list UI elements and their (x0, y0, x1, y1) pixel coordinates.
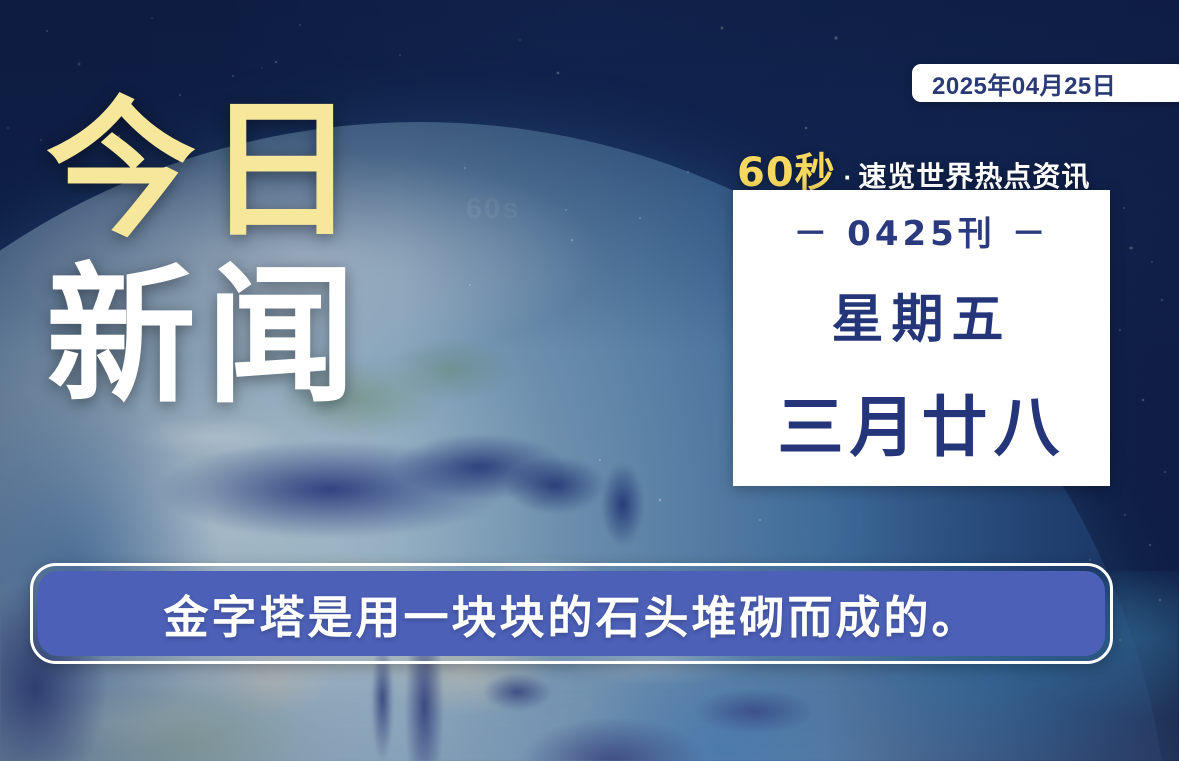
quote-banner: 金字塔是用一块块的石头堆砌而成的。 (30, 563, 1113, 664)
quote-text: 金字塔是用一块块的石头堆砌而成的。 (163, 581, 979, 646)
tagline-description: 速览世界热点资讯 (858, 155, 1090, 195)
title-line-news: 新闻 (46, 262, 466, 412)
date-badge: 2025年04月25日 (912, 64, 1179, 102)
date-info-card: － 0425刊 － 星期五 三月廿八 (733, 190, 1110, 486)
tagline-separator-icon: · (844, 162, 853, 193)
title-line-today: 今日 (46, 96, 466, 246)
lunar-date-label: 三月廿八 (778, 374, 1066, 470)
site-watermark: 60s (466, 193, 520, 226)
poster-title: 今日 新闻 (46, 96, 466, 412)
weekday-label: 星期五 (831, 277, 1011, 352)
issue-number: － 0425刊 － (793, 206, 1049, 255)
news-poster: 60s 今日 新闻 2025年04月25日 60秒 · 速览世界热点资讯 － 0… (0, 0, 1179, 761)
quote-banner-inner: 金字塔是用一块块的石头堆砌而成的。 (38, 571, 1105, 656)
